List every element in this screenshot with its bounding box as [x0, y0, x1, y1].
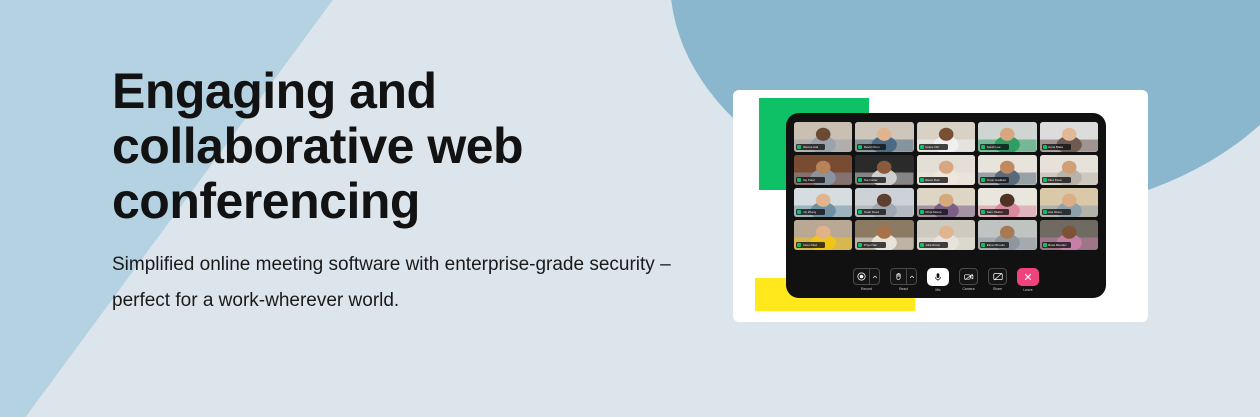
microphone-status-icon	[797, 243, 801, 247]
participant-grid: Marcus HallDavid ChenGrace ObiSarah LeeA…	[794, 122, 1098, 250]
participant-name: Julia Rossi	[925, 243, 940, 247]
microphone-status-icon	[858, 145, 862, 149]
participant-tile[interactable]: Julia Rossi	[917, 220, 975, 250]
participant-name-pill: Julia Rossi	[919, 242, 948, 248]
microphone-status-icon	[920, 210, 924, 214]
microphone-status-icon	[858, 243, 862, 247]
participant-name-pill: Rosa Mendez	[1042, 242, 1071, 248]
participant-name: Elena Ruiz	[925, 178, 940, 182]
hero-subtitle: Simplified online meeting software with …	[112, 247, 712, 319]
microphone-status-icon	[1043, 243, 1047, 247]
participant-name: Rosa Mendez	[1048, 243, 1067, 247]
participant-tile[interactable]: Anna Blake	[1040, 122, 1098, 152]
participant-name-pill: Raj Patel	[796, 177, 825, 183]
participant-tile[interactable]: Rosa Mendez	[1040, 220, 1098, 250]
participant-name: Anna Blake	[1048, 145, 1063, 149]
participant-name: Raj Patel	[803, 178, 815, 182]
participant-tile[interactable]: Karen Diaz	[794, 220, 852, 250]
participant-name: Chris Moore	[925, 210, 941, 214]
participant-name: Karen Diaz	[803, 243, 818, 247]
microphone-status-icon	[1043, 178, 1047, 182]
participant-name-pill: Sarah Lee	[980, 144, 1009, 150]
microphone-status-icon	[981, 145, 985, 149]
microphone-status-icon	[920, 178, 924, 182]
meeting-controls: RecordReactMicCameraShareLeave	[786, 268, 1106, 292]
microphone-status-icon	[920, 243, 924, 247]
participant-name: Noah Reed	[864, 210, 879, 214]
participant-name-pill: Nia Carter	[857, 177, 886, 183]
control-label: Leave	[1023, 288, 1032, 292]
microphone-status-icon	[981, 243, 985, 247]
participant-name-pill: Karen Diaz	[796, 242, 825, 248]
control-label: Record	[861, 287, 872, 291]
participant-name-pill: Noah Reed	[857, 209, 886, 215]
participant-tile[interactable]: Chris Moore	[917, 188, 975, 218]
participant-tile[interactable]: David Chen	[855, 122, 913, 152]
product-card: Marcus HallDavid ChenGrace ObiSarah LeeA…	[733, 90, 1148, 322]
participant-tile[interactable]: Priya Nair	[855, 220, 913, 250]
microphone-status-icon	[858, 210, 862, 214]
participant-tile[interactable]: Elena Ruiz	[917, 155, 975, 185]
participant-name-pill: Elena Ruiz	[919, 177, 948, 183]
hero-banner: Engaging and collaborative web conferenc…	[0, 0, 1260, 417]
participant-tile[interactable]: Ethan Brooks	[978, 220, 1036, 250]
participant-tile[interactable]: Sarah Lee	[978, 122, 1036, 152]
raised-hand-icon[interactable]	[890, 268, 906, 285]
microphone-status-icon	[920, 145, 924, 149]
participant-name: Priya Nair	[864, 243, 877, 247]
participant-name-pill: Grace Obi	[919, 144, 948, 150]
control-mic[interactable]: Mic	[927, 268, 949, 292]
microphone-status-icon	[797, 178, 801, 182]
participant-name-pill: Chris Moore	[919, 209, 948, 215]
participant-name: Ava Stone	[1048, 210, 1062, 214]
participant-name-pill: Omar Haddad	[980, 177, 1009, 183]
participant-tile[interactable]: Mira Kwon	[1040, 155, 1098, 185]
screen-share-icon[interactable]	[988, 268, 1007, 285]
record-icon[interactable]	[853, 268, 869, 285]
participant-name-pill: David Chen	[857, 144, 886, 150]
participant-name-pill: Mira Kwon	[1042, 177, 1071, 183]
microphone-status-icon	[797, 145, 801, 149]
participant-name-pill: Ava Stone	[1042, 209, 1071, 215]
participant-tile[interactable]: Nia Carter	[855, 155, 913, 185]
participant-name: Grace Obi	[925, 145, 939, 149]
camera-off-icon[interactable]	[959, 268, 978, 285]
participant-tile[interactable]: Noah Reed	[855, 188, 913, 218]
control-label: React	[899, 287, 908, 291]
participant-name-pill: Anna Blake	[1042, 144, 1071, 150]
participant-name-pill: Priya Nair	[857, 242, 886, 248]
participant-tile[interactable]: Omar Haddad	[978, 155, 1036, 185]
hero-copy: Engaging and collaborative web conferenc…	[112, 64, 732, 319]
participant-tile[interactable]: Lily Zhang	[794, 188, 852, 218]
microphone-status-icon	[858, 178, 862, 182]
control-label: Share	[993, 287, 1002, 291]
microphone-status-icon	[981, 210, 985, 214]
microphone-status-icon	[1043, 145, 1047, 149]
participant-name: Mira Kwon	[1048, 178, 1062, 182]
participant-name: Marcus Hall	[803, 145, 819, 149]
microphone-status-icon	[797, 210, 801, 214]
chevron-up-icon[interactable]	[869, 268, 880, 285]
close-x-icon[interactable]	[1017, 268, 1039, 286]
microphone-status-icon	[981, 178, 985, 182]
control-label: Mic	[935, 288, 940, 292]
participant-name-pill: Marcus Hall	[796, 144, 825, 150]
control-record[interactable]: Record	[853, 268, 880, 291]
microphone-icon[interactable]	[927, 268, 949, 286]
participant-name-pill: Ethan Brooks	[980, 242, 1009, 248]
control-react[interactable]: React	[890, 268, 917, 291]
control-leave[interactable]: Leave	[1017, 268, 1039, 292]
participant-name: Sarah Lee	[987, 145, 1001, 149]
participant-name-pill: Sam Okafor	[980, 209, 1009, 215]
participant-tile[interactable]: Raj Patel	[794, 155, 852, 185]
participant-name: Omar Haddad	[987, 178, 1006, 182]
participant-tile[interactable]: Grace Obi	[917, 122, 975, 152]
participant-tile[interactable]: Sam Okafor	[978, 188, 1036, 218]
participant-tile[interactable]: Ava Stone	[1040, 188, 1098, 218]
participant-name: Ethan Brooks	[987, 243, 1005, 247]
participant-name: Nia Carter	[864, 178, 878, 182]
participant-name: Sam Okafor	[987, 210, 1003, 214]
participant-name-pill: Lily Zhang	[796, 209, 825, 215]
page-title: Engaging and collaborative web conferenc…	[112, 64, 632, 229]
control-label: Camera	[962, 287, 974, 291]
microphone-status-icon	[1043, 210, 1047, 214]
chevron-up-icon[interactable]	[906, 268, 917, 285]
participant-name: Lily Zhang	[803, 210, 817, 214]
control-camera[interactable]: Camera	[959, 268, 978, 291]
participant-tile[interactable]: Marcus Hall	[794, 122, 852, 152]
meeting-screen: Marcus HallDavid ChenGrace ObiSarah LeeA…	[786, 113, 1106, 298]
participant-name: David Chen	[864, 145, 880, 149]
control-share[interactable]: Share	[988, 268, 1007, 291]
